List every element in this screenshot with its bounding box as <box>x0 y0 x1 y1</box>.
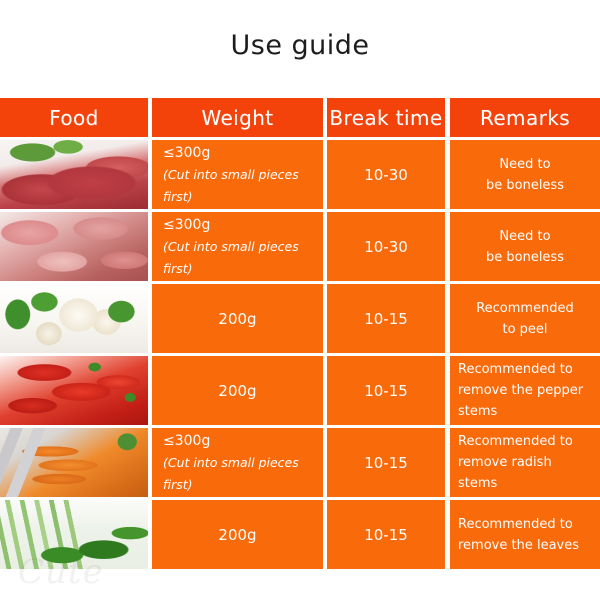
table-cell-food <box>0 212 148 281</box>
table-cell-weight: 200g <box>152 284 323 353</box>
table-cell-food <box>0 284 148 353</box>
table-cell-remarks: Recommended toremove radishstems <box>450 428 600 497</box>
table-cell-break-time: 10-15 <box>327 500 445 569</box>
use-guide-page: Use guide Food Weight Break time Remarks… <box>0 0 600 600</box>
remarks-line: be boneless <box>486 175 564 196</box>
table-row: ≤300g(Cut into small pieces first)10-30N… <box>0 140 600 209</box>
garlic-photo <box>0 284 148 353</box>
header-cell-weight: Weight <box>152 98 323 137</box>
weight-primary: ≤300g <box>163 430 210 452</box>
remarks-line: remove the pepper <box>458 380 583 401</box>
table-cell-break-time: 10-15 <box>327 284 445 353</box>
weight-note: (Cut into small pieces first) <box>163 236 323 280</box>
table-cell-remarks: Need tobe boneless <box>450 140 600 209</box>
pork-photo <box>0 212 148 281</box>
remarks-line: remove radish <box>458 452 552 473</box>
header-cell-remarks: Remarks <box>450 98 600 137</box>
break-time-value: 10-15 <box>364 454 408 472</box>
table-cell-break-time: 10-15 <box>327 356 445 425</box>
weight-value-group: 200g <box>152 284 323 353</box>
weight-value-group: ≤300g(Cut into small pieces first) <box>152 428 323 497</box>
table-row: ≤300g(Cut into small pieces first)10-30N… <box>0 212 600 281</box>
remarks-text-group: Need tobe boneless <box>450 212 600 281</box>
break-time-value: 10-30 <box>364 166 408 184</box>
weight-primary: 200g <box>218 524 256 546</box>
table-cell-weight: ≤300g(Cut into small pieces first) <box>152 212 323 281</box>
table-cell-weight: ≤300g(Cut into small pieces first) <box>152 428 323 497</box>
remarks-line: remove the leaves <box>458 535 579 556</box>
remarks-line: be boneless <box>486 247 564 268</box>
beef-photo <box>0 140 148 209</box>
watermark: Cute <box>18 552 104 592</box>
weight-value-group: ≤300g(Cut into small pieces first) <box>152 140 323 209</box>
remarks-line: Recommended to <box>458 431 573 452</box>
header-cell-food: Food <box>0 98 148 137</box>
break-time-value: 10-15 <box>364 310 408 328</box>
remarks-text-group: Recommended toremove radishstems <box>450 428 600 497</box>
weight-primary: 200g <box>218 308 256 330</box>
weight-note: (Cut into small pieces first) <box>163 452 323 496</box>
table-header-row: Food Weight Break time Remarks <box>0 98 600 137</box>
table-cell-weight: ≤300g(Cut into small pieces first) <box>152 140 323 209</box>
table-row: ≤300g(Cut into small pieces first)10-15R… <box>0 428 600 497</box>
table-cell-weight: 200g <box>152 356 323 425</box>
remarks-line: Recommended to <box>458 359 573 380</box>
weight-primary: 200g <box>218 380 256 402</box>
table-cell-food <box>0 428 148 497</box>
table-cell-remarks: Recommended toremove the pepperstems <box>450 356 600 425</box>
break-time-value: 10-15 <box>364 382 408 400</box>
table-cell-break-time: 10-30 <box>327 140 445 209</box>
remarks-text-group: Recommended toremove the leaves <box>450 500 600 569</box>
table-cell-food <box>0 356 148 425</box>
table-cell-remarks: Recommendedto peel <box>450 284 600 353</box>
weight-primary: ≤300g <box>163 214 210 236</box>
header-cell-break-time: Break time <box>327 98 445 137</box>
break-time-value: 10-15 <box>364 526 408 544</box>
table-row: 200g10-15Recommendedto peel <box>0 284 600 353</box>
remarks-line: to peel <box>502 319 547 340</box>
table-cell-food <box>0 140 148 209</box>
remarks-text-group: Need tobe boneless <box>450 140 600 209</box>
table-body: ≤300g(Cut into small pieces first)10-30N… <box>0 140 600 569</box>
remarks-line: Recommended to <box>458 514 573 535</box>
remarks-line: stems <box>458 473 497 494</box>
table-cell-break-time: 10-30 <box>327 212 445 281</box>
break-time-value: 10-30 <box>364 238 408 256</box>
table-cell-remarks: Recommended toremove the leaves <box>450 500 600 569</box>
weight-value-group: 200g <box>152 500 323 569</box>
carrot-photo <box>0 428 148 497</box>
page-title: Use guide <box>0 30 600 61</box>
remarks-line: Recommended <box>476 298 574 319</box>
weight-value-group: ≤300g(Cut into small pieces first) <box>152 212 323 281</box>
remarks-line: Need to <box>499 226 550 247</box>
table-cell-weight: 200g <box>152 500 323 569</box>
table-row: 200g10-15Recommended toremove the pepper… <box>0 356 600 425</box>
table-cell-remarks: Need tobe boneless <box>450 212 600 281</box>
weight-primary: ≤300g <box>163 142 210 164</box>
weight-value-group: 200g <box>152 356 323 425</box>
remarks-line: stems <box>458 401 497 422</box>
remarks-text-group: Recommended toremove the pepperstems <box>450 356 600 425</box>
remarks-line: Need to <box>499 154 550 175</box>
use-guide-table: Food Weight Break time Remarks ≤300g(Cut… <box>0 98 600 572</box>
table-cell-break-time: 10-15 <box>327 428 445 497</box>
remarks-text-group: Recommendedto peel <box>450 284 600 353</box>
weight-note: (Cut into small pieces first) <box>163 164 323 208</box>
pepper-photo <box>0 356 148 425</box>
